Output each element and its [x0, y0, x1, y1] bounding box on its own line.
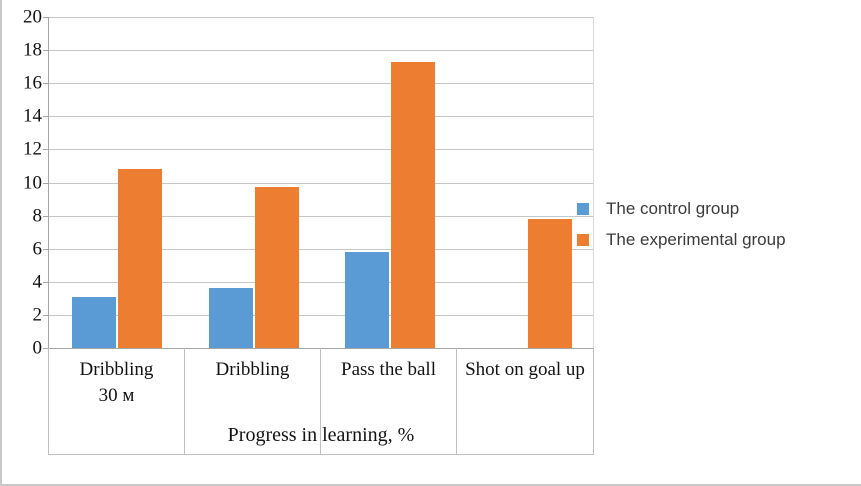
y-axis-tick-label: 20 — [4, 8, 42, 27]
gridline-16 — [49, 83, 593, 84]
legend-item-control[interactable]: The control group — [577, 193, 857, 224]
y-axis-tick-label: 6 — [4, 239, 42, 258]
y-tick-mark-8 — [43, 216, 49, 217]
chart-frame: 20181614121086420 Dribbling 30 мDribblin… — [0, 0, 861, 486]
y-tick-mark-20 — [43, 17, 49, 18]
y-axis-tick-label: 0 — [4, 339, 42, 358]
legend-item-experimental[interactable]: The experimental group — [577, 224, 857, 255]
y-axis-tick-label: 4 — [4, 272, 42, 291]
y-tick-mark-10 — [43, 183, 49, 184]
y-tick-mark-4 — [43, 282, 49, 283]
x-axis-category-label: Shot on goal up — [465, 357, 585, 383]
legend-label: The control group — [606, 199, 739, 219]
y-axis-tick-label: 2 — [4, 305, 42, 324]
x-axis-category-label: Dribbling 30 м — [80, 357, 154, 408]
y-tick-mark-18 — [43, 50, 49, 51]
bar-experimental-0 — [118, 169, 162, 348]
gridline-12 — [49, 149, 593, 150]
legend-swatch-control-icon — [577, 203, 589, 215]
bar-experimental-2 — [391, 62, 435, 348]
legend-label: The experimental group — [606, 230, 786, 250]
y-axis-tick-label: 18 — [4, 41, 42, 60]
y-tick-mark-2 — [43, 315, 49, 316]
plot-area — [48, 17, 594, 348]
gridline-20 — [49, 17, 593, 18]
x-axis-category-label: Dribbling — [216, 357, 290, 383]
y-tick-mark-14 — [43, 116, 49, 117]
chart-legend: The control groupThe experimental group — [577, 193, 857, 255]
bar-experimental-1 — [255, 187, 299, 348]
bar-control-1 — [209, 288, 253, 348]
x-axis-title: Progress in learning, % — [48, 424, 594, 447]
gridline-18 — [49, 50, 593, 51]
legend-swatch-experimental-icon — [577, 234, 589, 246]
y-axis-labels: 20181614121086420 — [2, 17, 42, 348]
y-tick-mark-16 — [43, 83, 49, 84]
y-axis-tick-label: 8 — [4, 206, 42, 225]
y-axis-tick-label: 16 — [4, 74, 42, 93]
y-axis-tick-label: 14 — [4, 107, 42, 126]
y-axis-tick-label: 12 — [4, 140, 42, 159]
x-axis-category-label: Pass the ball — [341, 357, 436, 383]
bar-control-2 — [345, 252, 389, 348]
bar-control-0 — [72, 297, 116, 348]
gridline-14 — [49, 116, 593, 117]
y-tick-mark-12 — [43, 149, 49, 150]
y-tick-mark-6 — [43, 249, 49, 250]
bar-experimental-3 — [528, 219, 572, 348]
y-axis-tick-label: 10 — [4, 173, 42, 192]
